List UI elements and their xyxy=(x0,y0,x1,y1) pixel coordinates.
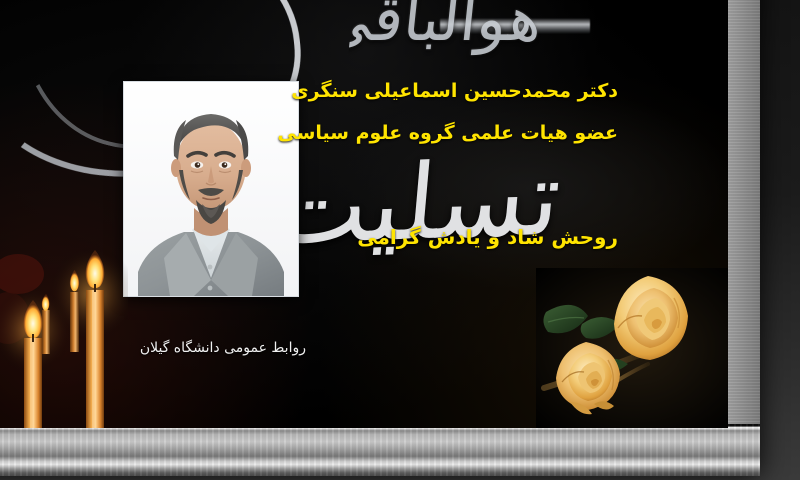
deceased-title-line: عضو هیات علمی گروه علوم سیاسی xyxy=(278,122,619,144)
portrait-photo xyxy=(124,82,298,296)
deceased-name-line: دکتر محمدحسین اسماعیلی سنگری xyxy=(291,80,618,102)
blessing-line: روحش شاد و یادش گرامی xyxy=(357,225,618,249)
poster-stage: هوالباقی تسلیت xyxy=(0,0,800,480)
frame-bottom-edge xyxy=(0,424,760,476)
portrait-illustration xyxy=(124,82,298,296)
poster-canvas: هوالباقی تسلیت xyxy=(0,0,728,428)
yellow-roses xyxy=(536,268,728,428)
credit-line: روابط عمومی دانشگاه گیلان xyxy=(126,340,306,356)
roses-illustration xyxy=(536,268,728,428)
top-calligraphy-text: هوالباقی xyxy=(348,0,547,60)
